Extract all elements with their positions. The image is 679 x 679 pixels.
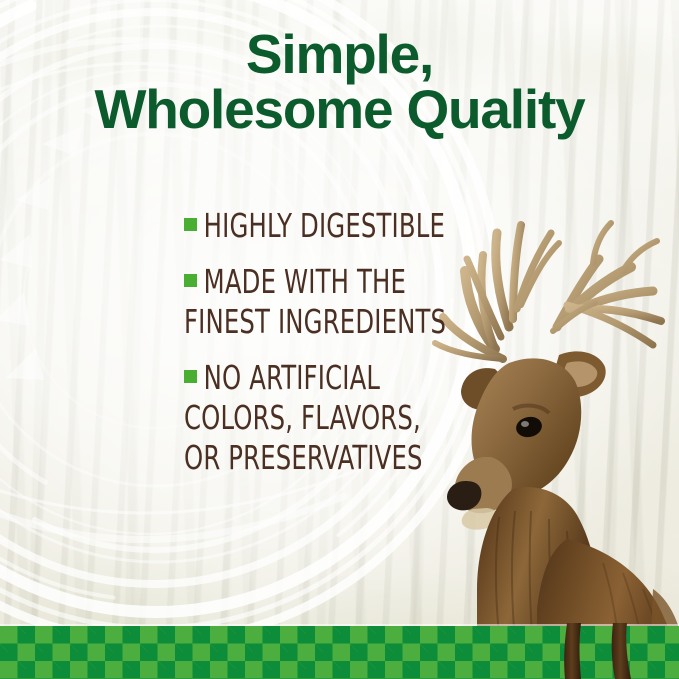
checkerboard-footer-band <box>0 626 679 679</box>
product-feature-banner: Simple, Wholesome Quality Highly Digesti… <box>0 0 679 679</box>
bullet-text: Finest Ingredients <box>184 302 446 341</box>
headline-line-1: Simple, <box>0 27 679 82</box>
bullet-text: Made with the <box>204 262 406 301</box>
bullet-square-icon <box>184 370 197 383</box>
bullet-text: Highly Digestible <box>204 206 445 245</box>
bullet-line: Made with the <box>184 262 430 302</box>
list-item: Made with the Finest Ingredients <box>184 262 484 342</box>
bullet-line-continued: Colors, Flavors, <box>184 398 430 438</box>
bullet-square-icon <box>184 218 197 231</box>
headline-line-2: Wholesome Quality <box>0 82 679 137</box>
bullet-text: Colors, Flavors, <box>184 398 421 437</box>
headline: Simple, Wholesome Quality <box>0 27 679 137</box>
bullet-line: Highly Digestible <box>184 206 430 246</box>
bullet-line: No Artificial <box>184 358 430 398</box>
feature-bullet-list: Highly Digestible Made with the Finest I… <box>184 206 484 494</box>
bullet-line-continued: Finest Ingredients <box>184 302 430 342</box>
bullet-square-icon <box>184 274 197 287</box>
list-item: Highly Digestible <box>184 206 484 246</box>
list-item: No Artificial Colors, Flavors, Or Preser… <box>184 358 484 478</box>
bullet-text: No Artificial <box>204 358 380 397</box>
bullet-line-continued: Or Preservatives <box>184 438 430 478</box>
bullet-text: Or Preservatives <box>184 438 423 477</box>
